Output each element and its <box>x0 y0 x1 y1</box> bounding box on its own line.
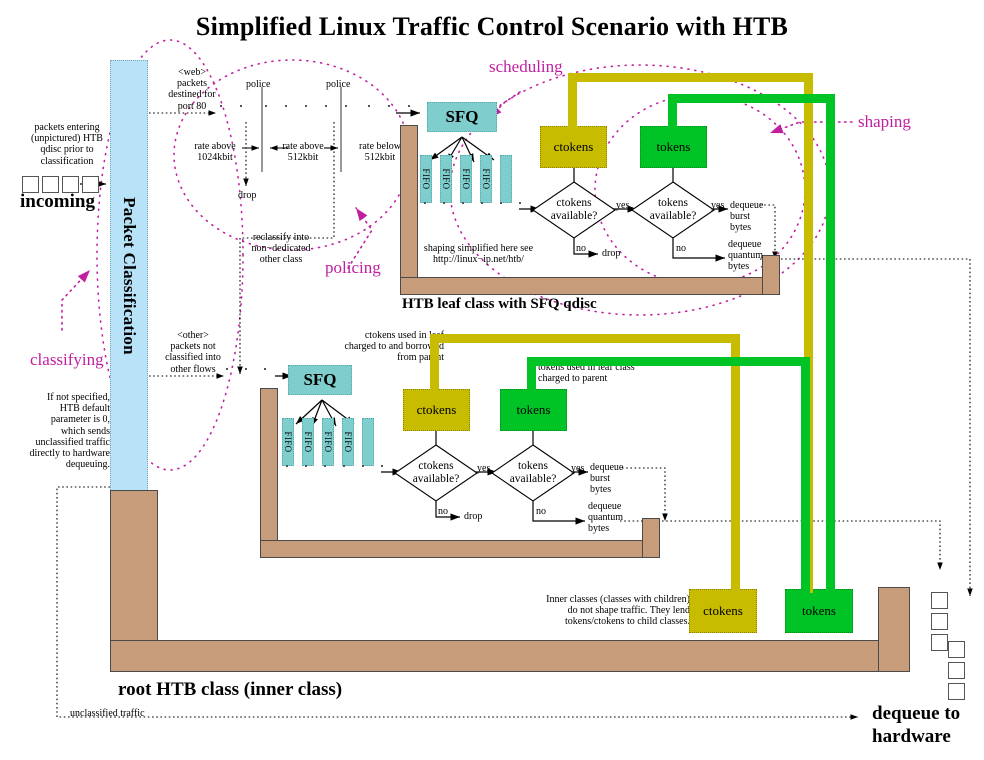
leaf-ctokens-label: ctokens <box>554 139 594 155</box>
fifo-bar <box>362 418 374 466</box>
htb-leaf-class-caption: HTB leaf class with SFQ qdisc <box>402 296 597 313</box>
fifo-bar: FIFO <box>420 155 432 203</box>
fifo-label: FIFO <box>421 168 431 189</box>
packet <box>245 368 247 370</box>
leaf-tokens-decision-line1: tokens <box>658 197 688 210</box>
packet <box>226 368 228 370</box>
packet <box>286 465 288 467</box>
packet <box>481 202 483 204</box>
fifo-bar <box>500 155 512 203</box>
fifo-bar: FIFO <box>282 418 294 466</box>
other-ctokens-decision-line1: ctokens <box>418 460 453 473</box>
packet <box>345 105 347 107</box>
leaf-yes-1: yes <box>616 200 629 211</box>
packet <box>343 465 345 467</box>
tokens-pipe-other-top <box>527 357 810 366</box>
fifo-bar: FIFO <box>440 155 452 203</box>
root-htb-class-riser <box>878 587 910 672</box>
packet <box>931 634 948 651</box>
other-class-container-riser <box>642 518 660 558</box>
sfq-other-label: SFQ <box>303 370 336 390</box>
packet <box>381 465 383 467</box>
leaf-tokens-label: tokens <box>657 139 691 155</box>
tokens-pipe-leaf-top <box>668 94 835 103</box>
fifo-bar: FIFO <box>480 155 492 203</box>
htb-leaf-class-container-vertical <box>400 125 418 295</box>
other-yes-2: yes <box>571 463 584 474</box>
ctokens-pipe-other-top <box>430 334 740 343</box>
packet <box>424 202 426 204</box>
other-tokens-box: tokens <box>500 389 567 431</box>
root-tokens-box: tokens <box>785 589 853 633</box>
annotation-classifying: classifying <box>30 350 104 369</box>
other-ctokens-decision-line2: available? <box>413 473 460 486</box>
packet <box>948 683 965 700</box>
other-tokens-label: tokens <box>517 402 551 418</box>
leaf-no-2: no <box>676 243 686 254</box>
root-htb-class-horizontal <box>110 640 910 672</box>
leaf-ctokens-decision-line1: ctokens <box>556 197 591 210</box>
packet <box>264 368 266 370</box>
annotation-scheduling: scheduling <box>489 57 563 76</box>
fifo-bar: FIFO <box>302 418 314 466</box>
inner-class-note: Inner classes (classes with children) do… <box>540 594 690 628</box>
packet-classification-bar[interactable]: Packet Classification <box>110 60 148 492</box>
packet <box>285 105 287 107</box>
packet <box>931 613 948 630</box>
root-tokens-label: tokens <box>802 603 836 619</box>
incoming-note: packets entering (unpictured) HTB qdisc … <box>24 122 110 167</box>
annotation-policing: policing <box>325 258 381 277</box>
page-title: Simplified Linux Traffic Control Scenari… <box>0 12 984 41</box>
other-tokens-decision-line2: available? <box>510 473 557 486</box>
leaf-tokens-decision-line2: available? <box>650 210 697 223</box>
fifo-bar: FIFO <box>342 418 354 466</box>
web-flow-label: <web> packets destined for port 80 <box>162 67 222 112</box>
fifo-label: FIFO <box>303 431 313 452</box>
other-class-container-horizontal <box>260 540 660 558</box>
sfq-leaf: SFQ <box>427 102 497 132</box>
tokens-pipe-other-right <box>801 357 810 593</box>
other-dequeue-burst: dequeue burst bytes <box>590 462 628 496</box>
leaf-tokens-decision: tokens available? <box>631 181 715 239</box>
leaf-dequeue-burst: dequeue burst bytes <box>730 200 768 234</box>
dequeue-to-hardware-label: dequeue to hardware <box>872 703 984 749</box>
packet <box>325 105 327 107</box>
other-tokens-decision-line1: tokens <box>518 460 548 473</box>
packet <box>519 202 521 204</box>
packet <box>388 105 390 107</box>
packet <box>265 105 267 107</box>
incoming-label: incoming <box>20 191 95 212</box>
packet <box>305 465 307 467</box>
other-ctokens-box: ctokens <box>403 389 470 431</box>
other-dequeue-quantum: dequeue quantum bytes <box>588 501 630 535</box>
tokens-pipe-leaf-right <box>826 94 835 593</box>
packet <box>305 105 307 107</box>
fifo-label: FIFO <box>461 168 471 189</box>
packet <box>368 105 370 107</box>
leaf-yes-2: yes <box>711 200 724 211</box>
ctokens-pipe-leaf-top <box>568 73 813 82</box>
packet <box>240 105 242 107</box>
other-drop-label: drop <box>464 511 482 522</box>
other-ctokens-label: ctokens <box>417 402 457 418</box>
fifo-label: FIFO <box>283 431 293 452</box>
other-ctokens-note: ctokens used in leaf charged to and borr… <box>340 330 444 364</box>
root-ctokens-box: ctokens <box>689 589 757 633</box>
leaf-ctokens-box: ctokens <box>540 126 607 168</box>
packet <box>500 202 502 204</box>
fifo-label: FIFO <box>323 431 333 452</box>
ctokens-pipe-other-right <box>731 334 740 593</box>
policing-drop-label: drop <box>238 190 256 201</box>
reclassify-note: reclassify into non−dedicated other clas… <box>243 232 319 266</box>
shaping-simplified-note: shaping simplified here see http://linux… <box>416 243 541 265</box>
packet <box>948 641 965 658</box>
other-flow-label: <other> packets not classified into othe… <box>163 330 223 375</box>
fifo-label: FIFO <box>343 431 353 452</box>
leaf-tokens-box: tokens <box>640 126 707 168</box>
leaf-dequeue-quantum: dequeue quantum bytes <box>728 239 768 273</box>
leaf-drop-label: drop <box>602 248 620 259</box>
htb-leaf-class-container-horizontal <box>400 277 780 295</box>
fifo-label: FIFO <box>481 168 491 189</box>
packet-classification-label: Packet Classification <box>119 197 139 355</box>
rate-above-512-label: rate above 512kbit <box>275 141 331 163</box>
unclassified-traffic-label: unclassified traffic <box>70 708 145 719</box>
root-ctokens-label: ctokens <box>703 603 743 619</box>
packet <box>931 592 948 609</box>
leaf-ctokens-decision: ctokens available? <box>532 181 616 239</box>
other-class-container-vertical <box>260 388 278 558</box>
other-ctokens-decision: ctokens available? <box>394 444 478 502</box>
packet <box>324 465 326 467</box>
packet <box>948 662 965 679</box>
fifo-label: FIFO <box>441 168 451 189</box>
sfq-other: SFQ <box>288 365 352 395</box>
packet <box>462 202 464 204</box>
other-yes-1: yes <box>477 463 490 474</box>
dequeue-to-hardware-text: dequeue to hardware <box>872 703 960 747</box>
packet <box>443 202 445 204</box>
police-right-label: police <box>326 79 350 90</box>
police-left-label: police <box>246 79 270 90</box>
leaf-ctokens-decision-line2: available? <box>551 210 598 223</box>
other-tokens-decision: tokens available? <box>491 444 575 502</box>
annotation-shaping: shaping <box>858 112 911 131</box>
leaf-no-1: no <box>576 243 586 254</box>
htb-default-note: If not specified, HTB default parameter … <box>28 392 110 470</box>
packet <box>220 105 222 107</box>
packet <box>408 105 410 107</box>
sfq-leaf-label: SFQ <box>445 107 478 127</box>
fifo-bar: FIFO <box>460 155 472 203</box>
fifo-bar: FIFO <box>322 418 334 466</box>
rate-above-1024-label: rate above 1024kbit <box>186 141 244 163</box>
packet <box>362 465 364 467</box>
other-no-2: no <box>536 506 546 517</box>
other-no-1: no <box>438 506 448 517</box>
root-htb-class-caption: root HTB class (inner class) <box>118 679 342 700</box>
